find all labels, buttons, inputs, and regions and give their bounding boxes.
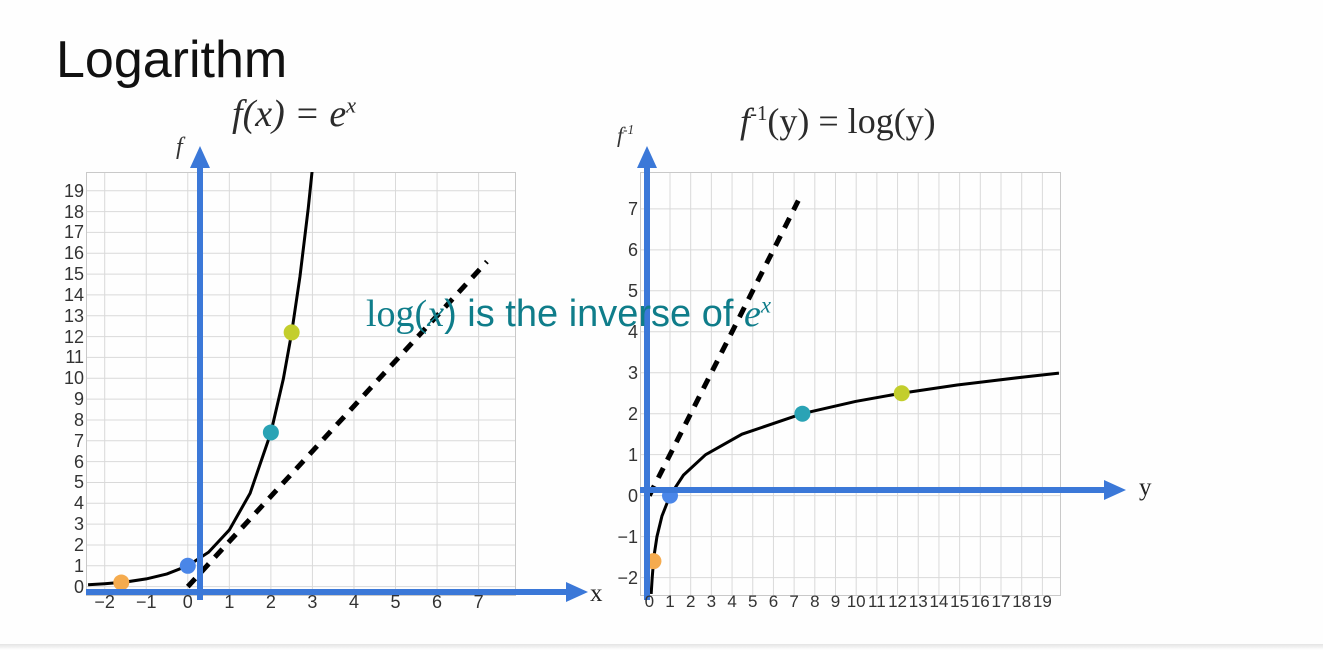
y-tick-label: 3 xyxy=(612,363,638,384)
blue-point xyxy=(662,488,678,504)
y-tick-label: 5 xyxy=(62,472,84,493)
blue-point xyxy=(180,558,196,574)
x-tick-label: 1 xyxy=(215,592,243,613)
right-horizontal-axis-arrowhead xyxy=(1104,480,1126,500)
left-vertical-axis-label: f xyxy=(176,134,183,161)
x-tick-label: −1 xyxy=(132,592,160,613)
left-horizontal-axis-label: x xyxy=(590,580,603,608)
x-tick-label: 6 xyxy=(423,592,451,613)
grid-lines xyxy=(86,172,516,596)
x-tick-label: 4 xyxy=(340,592,368,613)
left-formula-fname: f xyxy=(232,93,243,135)
x-tick-label: 5 xyxy=(382,592,410,613)
y-tick-label: 18 xyxy=(62,202,84,223)
yellow-point xyxy=(894,385,910,401)
plot-border xyxy=(87,173,516,596)
logarithm-curve xyxy=(651,373,1059,594)
y-tick-label: −1 xyxy=(612,527,638,548)
left-formula: f(x) = ex xyxy=(232,92,356,136)
orange-point xyxy=(645,553,661,569)
y-tick-label: 1 xyxy=(612,445,638,466)
y-tick-label: 6 xyxy=(62,452,84,473)
right-vertical-axis-label: f-1 xyxy=(617,122,634,148)
x-tick-label: 0 xyxy=(174,592,202,613)
x-tick-label: 7 xyxy=(465,592,493,613)
logarithm-data-points xyxy=(645,385,909,569)
yellow-point xyxy=(284,324,300,340)
y-tick-label: 2 xyxy=(62,535,84,556)
right-vertical-axis-label-sup: -1 xyxy=(623,122,634,137)
y-tick-label: 13 xyxy=(62,306,84,327)
right-horizontal-axis-label: y xyxy=(1139,474,1152,502)
y-tick-label: 7 xyxy=(612,199,638,220)
y-tick-label: 7 xyxy=(62,431,84,452)
y-tick-label: 16 xyxy=(62,243,84,264)
y-tick-label: 12 xyxy=(62,327,84,348)
y-tick-label: 1 xyxy=(62,556,84,577)
y-tick-label: 17 xyxy=(62,222,84,243)
y-tick-label: 2 xyxy=(612,404,638,425)
teal-point xyxy=(263,424,279,440)
y-tick-label: 9 xyxy=(62,389,84,410)
logarithm-chart-svg xyxy=(640,172,1061,596)
identity-line-dashed xyxy=(649,201,798,496)
slide-canvas: Logarithm f(x) = ex f-1(y) = log(y) f f-… xyxy=(0,0,1323,648)
y-tick-label: 6 xyxy=(612,240,638,261)
y-tick-label: 14 xyxy=(62,285,84,306)
x-tick-label: −2 xyxy=(91,592,119,613)
y-tick-label: 11 xyxy=(62,347,84,368)
right-formula-inverse-exponent: -1 xyxy=(750,101,767,125)
teal-point xyxy=(794,406,810,422)
y-tick-label: 10 xyxy=(62,368,84,389)
right-formula-fname: f xyxy=(740,101,750,141)
logarithm-chart xyxy=(640,172,1061,596)
right-formula: f-1(y) = log(y) xyxy=(740,100,936,142)
overlay-note-middle: ) is the inverse of xyxy=(444,293,744,335)
exponential-data-points xyxy=(113,324,299,590)
y-tick-label: 8 xyxy=(62,410,84,431)
overlay-note-prefix: log( xyxy=(366,293,427,335)
x-tick-label: 19 xyxy=(1028,592,1056,612)
y-tick-label: 3 xyxy=(62,514,84,535)
page-title: Logarithm xyxy=(56,30,287,90)
y-tick-label: 19 xyxy=(62,181,84,202)
x-tick-label: 3 xyxy=(298,592,326,613)
left-vertical-axis-arrowhead xyxy=(190,146,210,168)
overlay-note-exponent: x xyxy=(761,292,771,317)
exponential-chart-svg xyxy=(86,172,516,596)
exponential-chart xyxy=(86,172,516,596)
overlay-note: log(x) is the inverse of ex xyxy=(366,292,771,336)
y-tick-label: 15 xyxy=(62,264,84,285)
right-formula-arg: (y) = log(y) xyxy=(767,101,935,141)
slide-bottom-shadow xyxy=(0,644,1323,650)
left-formula-arg: (x) = xyxy=(243,93,330,135)
left-formula-exponent: x xyxy=(346,92,356,117)
y-tick-label: 0 xyxy=(612,486,638,507)
orange-point xyxy=(113,574,129,590)
left-horizontal-axis-arrowhead xyxy=(566,582,588,602)
left-formula-base: e xyxy=(329,93,346,135)
x-tick-label: 2 xyxy=(257,592,285,613)
overlay-note-base: e xyxy=(744,293,761,335)
right-vertical-axis-arrowhead xyxy=(637,146,657,168)
overlay-note-variable: x xyxy=(427,293,444,335)
y-tick-label: 4 xyxy=(62,493,84,514)
y-tick-label: 0 xyxy=(62,577,84,598)
y-tick-label: −2 xyxy=(612,568,638,589)
